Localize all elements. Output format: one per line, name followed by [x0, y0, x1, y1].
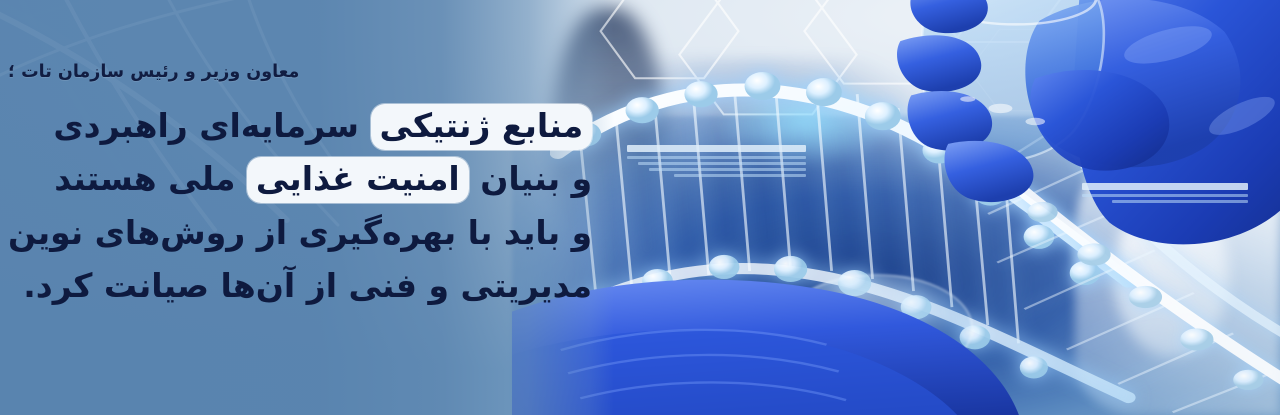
- headline-line-2: و بنیان امنیت غذایی ملی هستند: [8, 152, 592, 205]
- micro-text-block: [627, 145, 806, 180]
- headline: منابع ژنتیکی سرمایه‌ای راهبردی و بنیان ا…: [8, 99, 592, 313]
- micro-text-highlight-bar: [627, 145, 806, 152]
- micro-text-line: [627, 156, 806, 159]
- headline-line-1-rest: سرمایه‌ای راهبردی: [53, 106, 370, 145]
- headline-line-2-lead: و بنیان: [469, 159, 592, 198]
- headline-line-4: مدیریتی و فنی از آن‌ها صیانت کرد.: [8, 259, 592, 312]
- headline-line-3: و باید با بهره‌گیری از روش‌های نوین: [8, 206, 592, 259]
- micro-text-highlight-bar: [1082, 183, 1248, 190]
- micro-text-line: [1082, 194, 1248, 197]
- micro-text-line: [1112, 200, 1248, 203]
- highlight-genetic-resources: منابع ژنتیکی: [371, 104, 593, 150]
- highlight-food-security: امنیت غذایی: [247, 157, 469, 203]
- headline-line-1: منابع ژنتیکی سرمایه‌ای راهبردی: [8, 99, 592, 152]
- micro-text-block: [1082, 183, 1248, 206]
- kicker-text: معاون وزیر و رئیس سازمان تات ؛: [8, 62, 299, 83]
- headline-line-2-rest: ملی هستند: [54, 159, 247, 198]
- micro-text-line: [638, 162, 806, 165]
- micro-text-line: [674, 174, 807, 177]
- banner-text-content: معاون وزیر و رئیس سازمان تات ؛ منابع ژنت…: [0, 0, 570, 415]
- promotional-banner: معاون وزیر و رئیس سازمان تات ؛ منابع ژنت…: [0, 0, 1280, 415]
- micro-text-line: [649, 168, 807, 171]
